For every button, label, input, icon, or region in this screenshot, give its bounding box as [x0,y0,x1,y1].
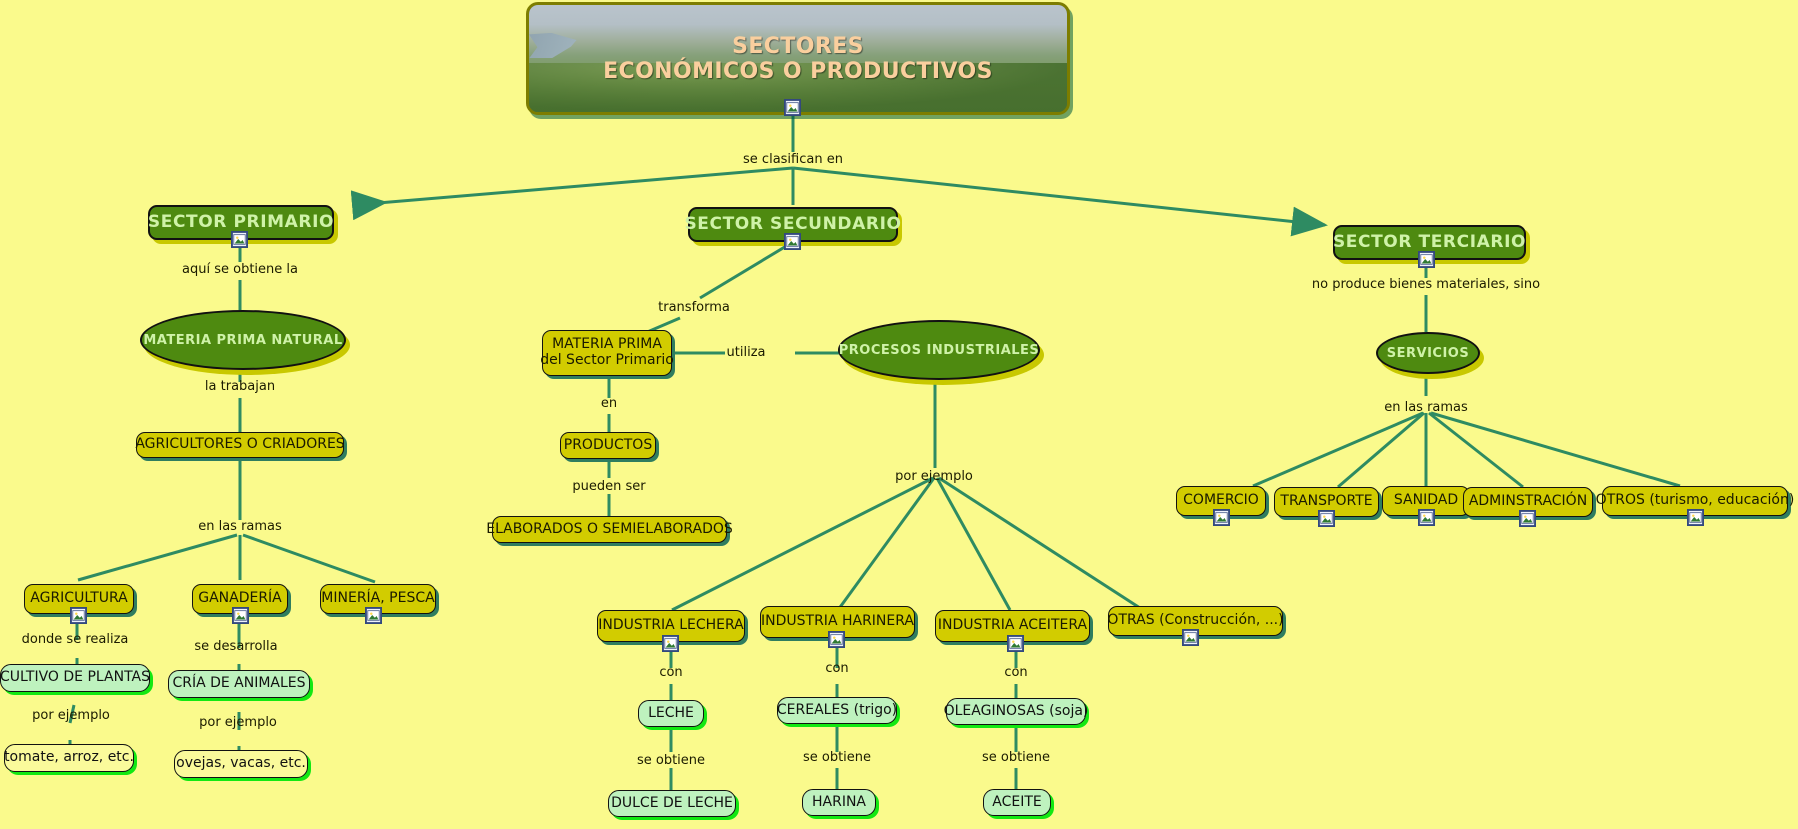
link-text: transforma [658,300,730,315]
node-label-line-2: del Sector Primario [540,353,674,369]
node-label: CULTIVO DE PLANTAS [0,670,150,686]
link-text: con [1004,665,1027,680]
link-label-se-clasifican-en: se clasifican en [743,152,843,167]
node-cria-de-animales[interactable]: CRÍA DE ANIMALES [168,670,310,698]
node-productos[interactable]: PRODUCTOS [560,432,656,459]
node-label: tomate, arroz, etc. [4,750,134,766]
node-label: AGRICULTURA [30,591,127,607]
node-label: ADMINSTRACIÓN [1469,494,1587,510]
picture-icon[interactable] [1007,635,1024,652]
link-text: en [601,396,617,411]
link-text: se desarrolla [194,639,277,654]
node-agricultores-o-criadores[interactable]: AGRICULTORES O CRIADORES [136,432,344,458]
link-label-en-las-ramas-terciario: en las ramas [1384,400,1468,415]
node-materia-prima-sector-primario[interactable]: MATERIA PRIMA del Sector Primario [542,330,672,376]
link-label-por-ejemplo-procesos: por ejemplo [895,469,973,484]
picture-icon[interactable] [1318,510,1335,527]
link-text: se obtiene [982,750,1050,765]
link-text: con [825,661,848,676]
node-label: ACEITE [992,795,1041,811]
link-text: se obtiene [803,750,871,765]
concept-map-canvas: SECTORES ECONÓMICOS O PRODUCTIVOS SECTOR… [0,0,1798,829]
node-oleaginosas-soja[interactable]: OLEAGINOSAS (soja) [946,698,1086,725]
picture-icon[interactable] [662,635,679,652]
node-label: SECTOR SECUNDARIO [684,215,901,234]
link-text: en las ramas [198,519,282,534]
node-label: CEREALES (trigo) [777,703,897,719]
picture-icon[interactable] [1418,509,1435,526]
node-elaborados-o-semielaborados[interactable]: ELABORADOS O SEMIELABORADOS [492,516,727,543]
node-label: MATERIA PRIMA NATURAL [143,333,342,348]
picture-icon[interactable] [1418,251,1435,268]
node-label: DULCE DE LECHE [611,796,733,812]
link-text: pueden ser [572,479,645,494]
root-title-line-1: SECTORES [732,34,864,59]
connector-lines [0,0,1798,829]
node-label: MINERÍA, PESCA [321,591,434,607]
link-label-no-produce: no produce bienes materiales, sino [1312,277,1540,292]
link-text: la trabajan [205,379,275,394]
node-label: LECHE [648,706,694,722]
node-dulce-de-leche[interactable]: DULCE DE LECHE [608,790,736,817]
link-label-se-obtiene-cereales: se obtiene [803,750,871,765]
node-label: INDUSTRIA HARINERA [761,614,914,630]
link-label-pueden-ser: pueden ser [572,479,645,494]
node-harina[interactable]: HARINA [802,789,876,816]
node-label: OTROS (turismo, educación) [1596,493,1795,509]
node-label: TRANSPORTE [1280,494,1372,510]
link-text: por ejemplo [199,715,277,730]
link-text: por ejemplo [895,469,973,484]
node-label: INDUSTRIA LECHERA [598,618,743,634]
node-ovejas-vacas[interactable]: ovejas, vacas, etc. [174,750,308,778]
picture-icon[interactable] [1182,629,1199,646]
node-leche[interactable]: LECHE [638,700,704,727]
link-text: en las ramas [1384,400,1468,415]
node-label: SANIDAD [1394,493,1458,509]
picture-icon[interactable] [231,231,248,248]
link-text: por ejemplo [32,708,110,723]
link-text: se clasifican en [743,152,843,167]
link-text: con [659,665,682,680]
picture-icon[interactable] [784,99,801,116]
link-label-se-obtiene-oleaginosas: se obtiene [982,750,1050,765]
node-label: ELABORADOS O SEMIELABORADOS [486,522,733,538]
node-label-line-1: MATERIA PRIMA [552,337,662,353]
link-label-en-las-ramas-primario: en las ramas [198,519,282,534]
link-label-con-lechera: con [659,665,682,680]
picture-icon[interactable] [784,233,801,250]
node-cereales-trigo[interactable]: CEREALES (trigo) [777,697,897,724]
link-label-donde-se-realiza: donde se realiza [22,632,129,647]
node-label: SECTOR PRIMARIO [148,213,334,232]
node-label: HARINA [812,795,866,811]
picture-icon[interactable] [1519,510,1536,527]
link-label-se-desarrolla: se desarrolla [194,639,277,654]
picture-icon[interactable] [232,607,249,624]
node-label: COMERCIO [1183,493,1259,509]
picture-icon[interactable] [70,607,87,624]
link-label-con-harinera: con [825,661,848,676]
node-procesos-industriales[interactable]: PROCESOS INDUSTRIALES [838,320,1040,380]
link-text: aquí se obtiene la [182,262,298,277]
link-text: utiliza [727,345,766,360]
picture-icon[interactable] [365,607,382,624]
link-text: donde se realiza [22,632,129,647]
node-label: CRÍA DE ANIMALES [172,676,305,692]
node-label: ovejas, vacas, etc. [176,756,306,772]
link-label-la-trabajan: la trabajan [205,379,275,394]
link-label-por-ejemplo-ganaderia: por ejemplo [199,715,277,730]
picture-icon[interactable] [1213,509,1230,526]
node-label: PROCESOS INDUSTRIALES [839,343,1040,358]
root-title: SECTORES ECONÓMICOS O PRODUCTIVOS [529,5,1067,112]
node-label: OTRAS (Construcción, ...) [1107,613,1283,629]
node-label: GANADERÍA [198,591,282,607]
node-label: SECTOR TERCIARIO [1333,233,1526,252]
node-servicios[interactable]: SERVICIOS [1376,332,1480,374]
node-label: INDUSTRIA ACEITERA [938,618,1087,634]
link-text: no produce bienes materiales, sino [1312,277,1540,292]
picture-icon[interactable] [828,631,845,648]
node-label: PRODUCTOS [564,438,652,454]
node-cultivo-de-plantas[interactable]: CULTIVO DE PLANTAS [0,664,150,692]
link-text: se obtiene [637,753,705,768]
link-label-transforma: transforma [658,300,730,315]
node-label: OLEAGINOSAS (soja) [944,704,1089,720]
link-label-utiliza: utiliza [727,345,766,360]
node-label: AGRICULTORES O CRIADORES [135,437,344,453]
node-aceite[interactable]: ACEITE [983,789,1051,816]
link-label-se-obtiene-leche: se obtiene [637,753,705,768]
node-materia-prima-natural[interactable]: MATERIA PRIMA NATURAL [140,310,346,370]
node-label: SERVICIOS [1387,346,1469,361]
link-label-por-ejemplo-agricultura: por ejemplo [32,708,110,723]
link-label-aqui-se-obtiene-la: aquí se obtiene la [182,262,298,277]
picture-icon[interactable] [1687,509,1704,526]
link-label-con-aceitera: con [1004,665,1027,680]
root-title-line-2: ECONÓMICOS O PRODUCTIVOS [603,59,993,84]
link-label-en: en [601,396,617,411]
node-tomate-arroz[interactable]: tomate, arroz, etc. [4,744,134,772]
